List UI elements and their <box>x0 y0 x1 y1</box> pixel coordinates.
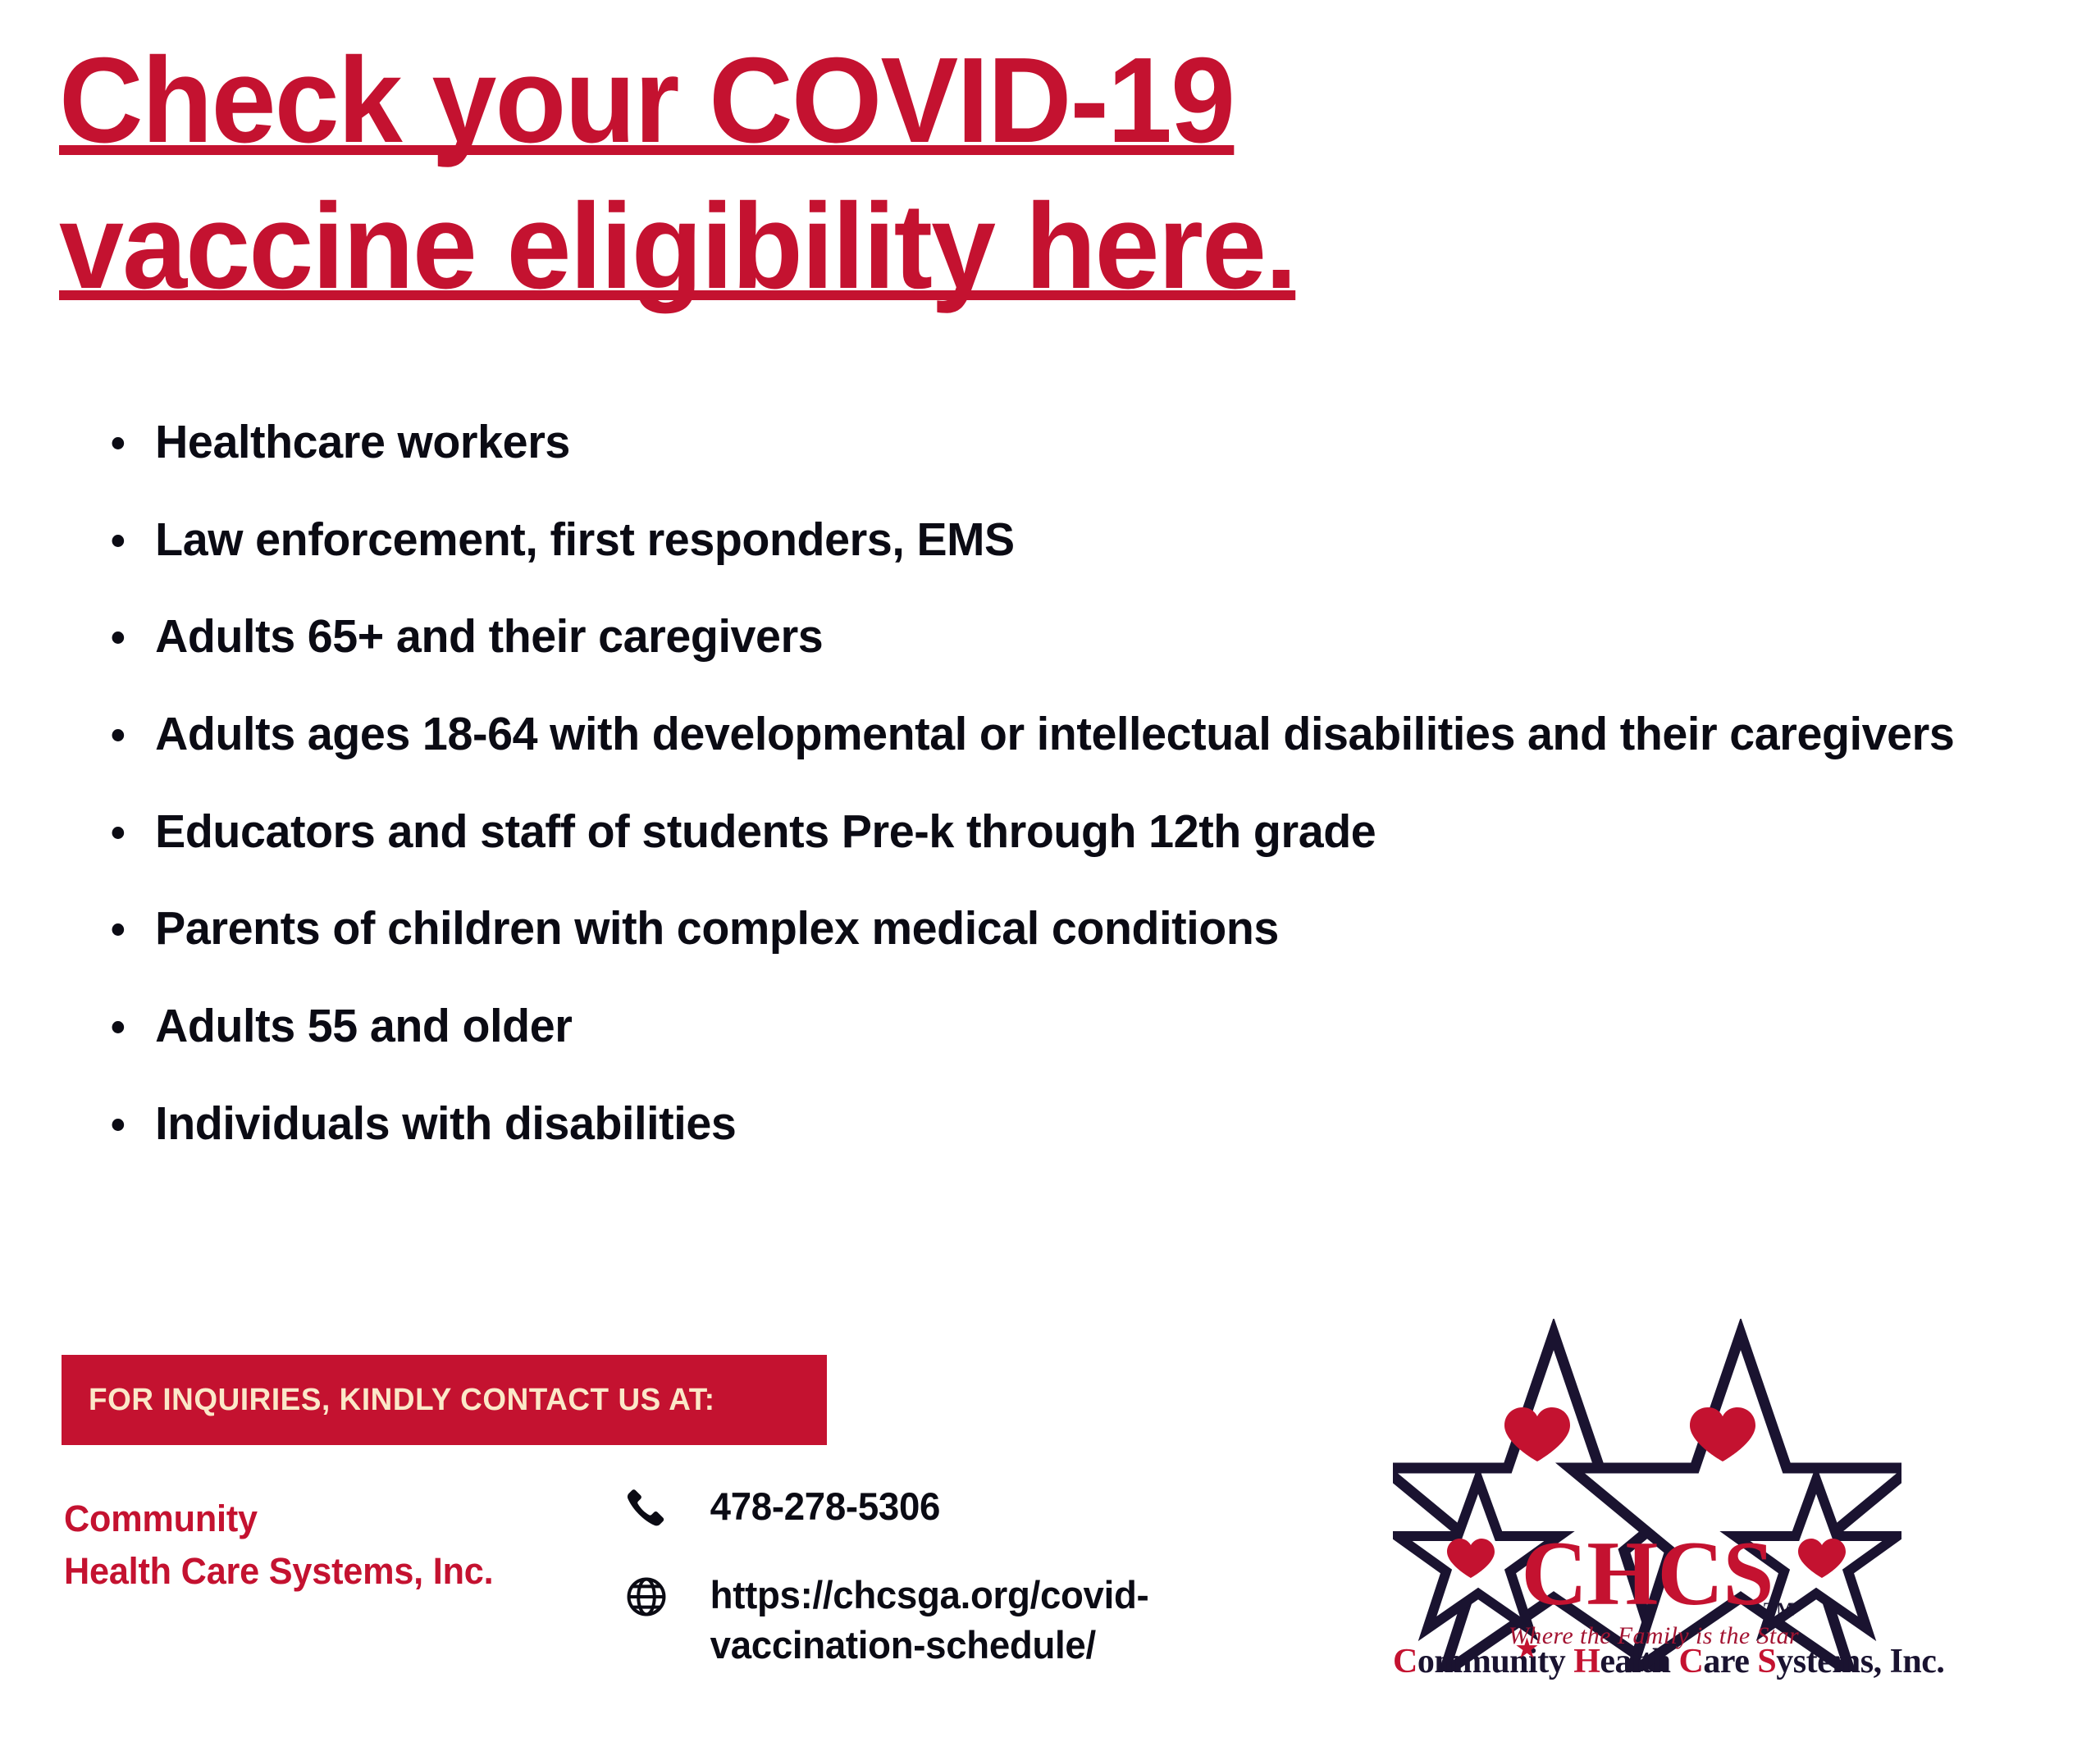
trademark-symbol: TM <box>1764 1599 1794 1620</box>
list-item: Individuals with disabilities <box>97 1092 1961 1156</box>
phone-row[interactable]: 478-278-5306 <box>623 1481 1247 1535</box>
page-title: Check your COVID-19 vaccine eligibility … <box>59 28 1700 319</box>
list-item-label: Adults 55 and older <box>155 1000 572 1052</box>
phone-number: 478-278-5306 <box>674 1481 940 1531</box>
chcs-wordmark: CHCS <box>1521 1523 1773 1625</box>
list-item-label: Parents of children with complex medical… <box>155 902 1279 955</box>
website-row[interactable]: https://chcsga.org/covid- vaccination-sc… <box>623 1570 1247 1670</box>
caption-c2: H <box>1573 1643 1600 1680</box>
list-item-label: Healthcare workers <box>155 416 570 468</box>
list-item-label: Law enforcement, first responders, EMS <box>155 513 1015 566</box>
list-item: Parents of children with complex medical… <box>97 896 1961 961</box>
list-item-label: Educators and staff of students Pre-k th… <box>155 805 1376 858</box>
caption-c1: C <box>1393 1643 1417 1680</box>
bullet-dot-icon <box>112 1021 125 1033</box>
caption-c3: C <box>1679 1643 1704 1680</box>
list-item: Healthcare workers <box>97 410 1961 475</box>
contact-banner-label: FOR INQUIRIES, KINDLY CONTACT US AT: <box>62 1383 715 1418</box>
bullet-dot-icon <box>112 827 125 839</box>
caption-t2: ealth <box>1600 1643 1678 1680</box>
headline-line-1: Check your COVID-19 <box>59 28 1234 174</box>
list-item: Adults ages 18-64 with developmental or … <box>97 702 1961 767</box>
chcs-logo: CHCS TM Where the Family is the Star ★Co… <box>1393 1319 1901 1729</box>
website-url: https://chcsga.org/covid- vaccination-sc… <box>674 1570 1148 1670</box>
globe-icon <box>623 1570 674 1624</box>
bullet-dot-icon <box>112 437 125 449</box>
bullet-dot-icon <box>112 1119 125 1131</box>
caption-t4: ystems, Inc. <box>1776 1643 1944 1680</box>
caption-t3: are <box>1703 1643 1757 1680</box>
contact-banner: FOR INQUIRIES, KINDLY CONTACT US AT: <box>62 1355 827 1445</box>
bullet-dot-icon <box>112 729 125 741</box>
chcs-logo-art: CHCS TM Where the Family is the Star <box>1393 1319 1901 1671</box>
organization-name: Community Health Care Systems, Inc. <box>64 1493 493 1598</box>
caption-t1: ommunity <box>1417 1643 1573 1680</box>
list-item-label: Adults 65+ and their caregivers <box>155 610 823 663</box>
website-url-line-1: https://chcsga.org/covid- <box>710 1570 1149 1620</box>
logo-caption: ★Community Health Care Systems, Inc. <box>1393 1642 1901 1681</box>
list-item: Adults 65+ and their caregivers <box>97 604 1961 669</box>
eligibility-list: Healthcare workers Law enforcement, firs… <box>97 410 2008 1188</box>
website-url-line-2: vaccination-schedule/ <box>710 1620 1149 1670</box>
phone-icon <box>623 1481 674 1535</box>
list-item: Educators and staff of students Pre-k th… <box>97 800 1961 864</box>
caption-c4: S <box>1757 1643 1776 1680</box>
list-item-label: Adults ages 18-64 with developmental or … <box>155 708 1954 760</box>
list-item: Law enforcement, first responders, EMS <box>97 508 1961 572</box>
headline-line-2: vaccine eligibility here. <box>59 174 1296 320</box>
poster-canvas: Check your COVID-19 vaccine eligibility … <box>0 0 2100 1760</box>
bullet-dot-icon <box>112 923 125 936</box>
org-name-line-2: Health Care Systems, Inc. <box>64 1545 493 1598</box>
caption-star-icon: ★ <box>1516 1637 1537 1662</box>
contact-details: 478-278-5306 https://chcsga.org/covid- v… <box>623 1481 1247 1704</box>
bullet-dot-icon <box>112 535 125 547</box>
bullet-dot-icon <box>112 632 125 644</box>
list-item: Adults 55 and older <box>97 994 1961 1059</box>
org-name-line-1: Community <box>64 1493 493 1545</box>
list-item-label: Individuals with disabilities <box>155 1097 736 1150</box>
